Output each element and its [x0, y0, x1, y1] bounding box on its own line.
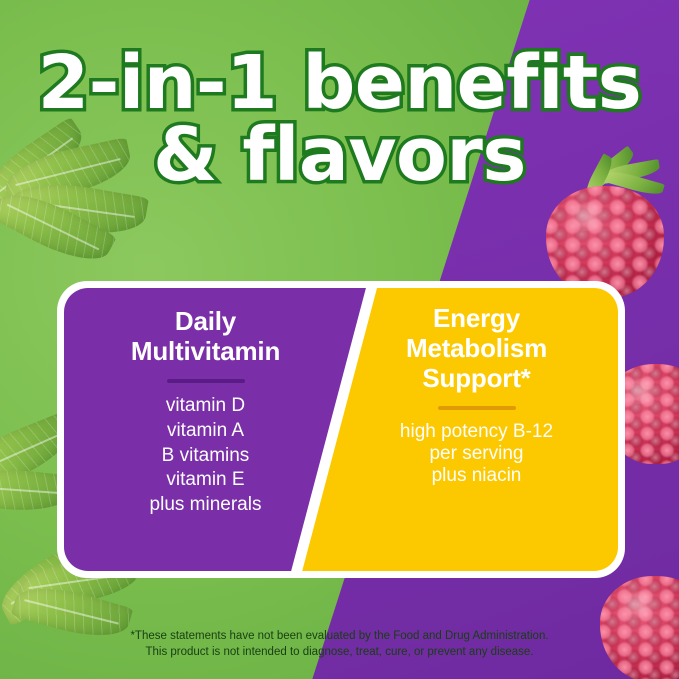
list-item: vitamin A	[150, 419, 262, 444]
list-item: plus niacin	[400, 465, 553, 487]
list-item: per serving	[400, 443, 553, 465]
daily-multivitamin-title: Daily Multivitamin	[131, 306, 280, 366]
title-line-1: Daily	[175, 306, 236, 336]
headline: 2-in-1 benefits & flavors	[0, 48, 679, 192]
product-benefits-graphic: 2-in-1 benefits & flavors Daily Multivit…	[0, 0, 679, 679]
energy-metabolism-title: Energy Metabolism Support*	[406, 303, 547, 393]
list-item: plus minerals	[150, 493, 262, 518]
panel-divider	[167, 379, 245, 383]
list-item: high potency B-12	[400, 421, 553, 443]
title-line-1: Energy	[433, 303, 520, 333]
energy-metabolism-content: Energy Metabolism Support* high potency …	[335, 281, 618, 578]
list-item: B vitamins	[150, 444, 262, 469]
title-line-2: Multivitamin	[131, 336, 280, 366]
list-item: vitamin E	[150, 468, 262, 493]
title-line-3: Support*	[422, 363, 530, 393]
daily-multivitamin-content: Daily Multivitamin vitamin D vitamin A B…	[64, 281, 347, 578]
list-item: vitamin D	[150, 394, 262, 419]
daily-multivitamin-list: vitamin D vitamin A B vitamins vitamin E…	[150, 394, 262, 517]
disclaimer: *These statements have not been evaluate…	[0, 628, 679, 661]
benefits-card: Daily Multivitamin vitamin D vitamin A B…	[57, 281, 625, 578]
title-line-2: Metabolism	[406, 333, 547, 363]
panel-divider	[438, 406, 516, 410]
headline-line-2: & flavors	[0, 120, 679, 192]
disclaimer-line-1: *These statements have not been evaluate…	[0, 628, 679, 644]
disclaimer-line-2: This product is not intended to diagnose…	[0, 644, 679, 660]
headline-line-1: 2-in-1 benefits	[0, 48, 679, 120]
energy-metabolism-list: high potency B-12 per serving plus niaci…	[400, 421, 553, 486]
